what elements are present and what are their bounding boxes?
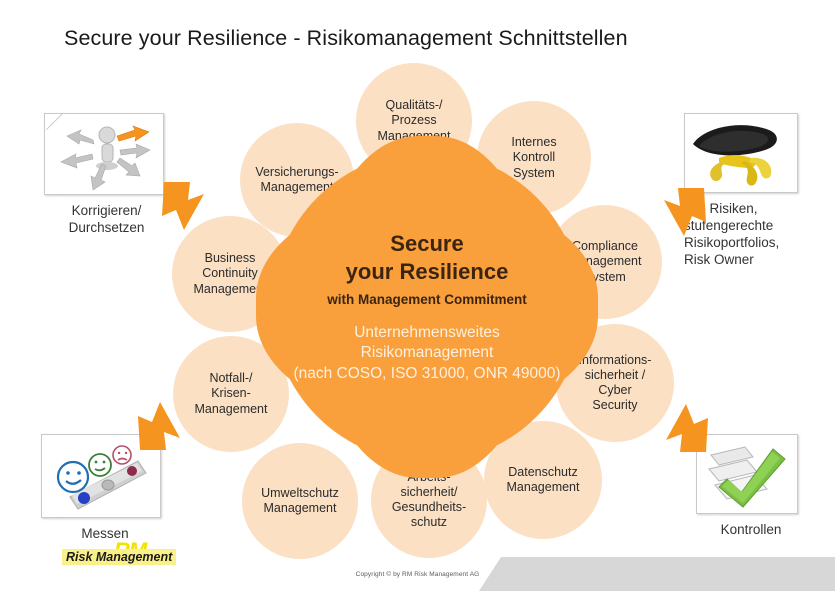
arrow-bottom-right xyxy=(662,402,710,459)
satellite-label: Umweltschutz Management xyxy=(255,486,345,517)
center-line-3: with Management Commitment xyxy=(327,292,527,308)
rm-logo-text: Risk Management xyxy=(62,549,176,565)
rm-logo: RM Risk Management xyxy=(62,548,176,566)
center-line-5: Risikomanagement xyxy=(361,344,494,362)
arrow-bottom-left xyxy=(136,400,184,457)
callout-bottom-right-label: Kontrollen xyxy=(696,522,806,539)
arrow-top-left xyxy=(160,180,208,237)
center-line-1: Secure xyxy=(390,231,463,257)
center-line-4: Unternehmensweites xyxy=(354,324,500,342)
slide-canvas: Secure your Resilience - Risikomanagemen… xyxy=(0,0,835,591)
figure-with-radiating-arrows-image xyxy=(44,113,164,195)
center-line-6: (nach COSO, ISO 31000, ONR 49000) xyxy=(293,365,560,383)
callout-top-left[interactable]: Korrigieren/ Durchsetzen xyxy=(44,113,169,237)
page-title: Secure your Resilience - Risikomanagemen… xyxy=(64,26,628,51)
center-line-2: your Resilience xyxy=(346,259,509,285)
satellite-label: Notfall-/ Krisen- Management xyxy=(189,371,274,417)
green-checkmark-documents-image xyxy=(696,434,798,514)
satellite-label: Arbeits- sicherheit/ Gesundheits- schutz xyxy=(386,470,472,531)
callout-bottom-left-label: Messen xyxy=(41,526,169,543)
banana-peel-photo xyxy=(684,113,798,193)
satellite-label: Informations- sicherheit / Cyber Securit… xyxy=(573,353,658,414)
callout-top-left-label: Korrigieren/ Durchsetzen xyxy=(44,203,169,237)
callout-bottom-right[interactable]: Kontrollen xyxy=(696,434,806,539)
center-text-group: Secure your Resilience with Management C… xyxy=(272,152,582,462)
arrow-top-right xyxy=(660,186,708,243)
satellite-label: Datenschutz Management xyxy=(501,465,586,496)
copyright-text: Copyright © by RM Risk Management AG xyxy=(0,571,835,578)
